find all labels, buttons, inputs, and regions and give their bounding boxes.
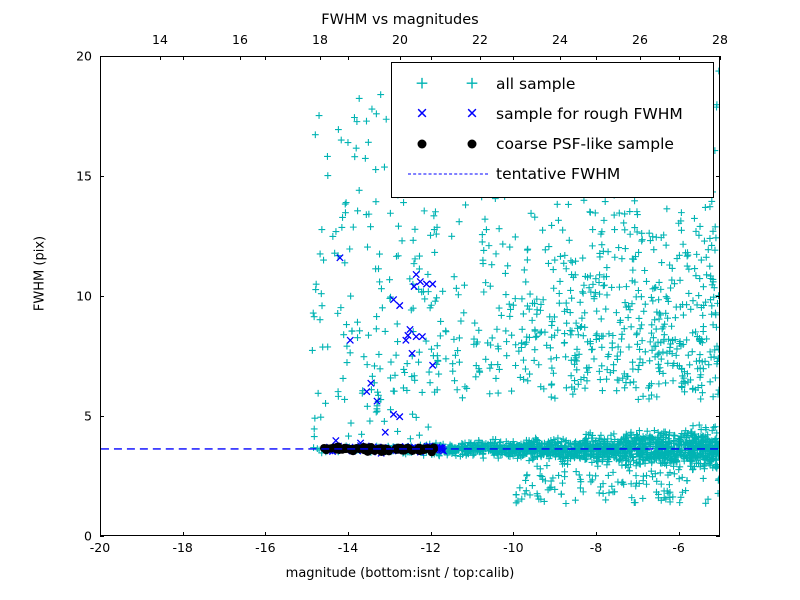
tick-mark [100, 176, 104, 177]
legend-item-sample-for-rough-fwhm: ✕ ✕ sample for rough FWHM [400, 99, 705, 129]
tick-mark [265, 532, 266, 536]
tick-mark [716, 56, 720, 57]
tick-label: -18 [172, 540, 192, 555]
tick-label: 28 [712, 32, 728, 47]
tick-mark [480, 56, 481, 60]
legend: + + all sample ✕ ✕ sample for rough FWHM… [391, 62, 714, 198]
tick-mark [265, 56, 266, 60]
tick-mark [716, 176, 720, 177]
tick-mark [100, 56, 104, 57]
tick-mark [720, 56, 721, 60]
tick-mark [160, 56, 161, 60]
legend-item-tentative-fwhm: tentative FWHM [400, 159, 705, 189]
tick-label: 0 [52, 529, 92, 544]
dot-marker-icon [400, 131, 496, 157]
legend-label: tentative FWHM [496, 165, 620, 183]
tick-mark [183, 532, 184, 536]
tick-label: 24 [552, 32, 568, 47]
tick-mark [640, 56, 641, 60]
tick-label: -20 [90, 540, 110, 555]
tick-mark [716, 296, 720, 297]
tick-mark [596, 532, 597, 536]
tick-label: -6 [672, 540, 684, 555]
tick-mark [431, 532, 432, 536]
tick-label: -10 [503, 540, 523, 555]
tick-label: 14 [152, 32, 168, 47]
tick-mark [716, 416, 720, 417]
tick-label: -14 [338, 540, 358, 555]
y-axis-label: FWHM (pix) [33, 174, 48, 374]
tick-mark [716, 536, 720, 537]
x-marker-icon: ✕ ✕ [400, 101, 496, 127]
tick-label: 20 [52, 49, 92, 64]
tick-label: -16 [255, 540, 275, 555]
tick-mark [400, 56, 401, 60]
tick-label: 20 [392, 32, 408, 47]
tick-mark [513, 532, 514, 536]
plus-icon: + + [400, 71, 496, 97]
tick-mark [183, 56, 184, 60]
dashed-line-icon [400, 161, 496, 187]
tick-mark [348, 532, 349, 536]
tick-mark [100, 416, 104, 417]
tick-label: 5 [52, 409, 92, 424]
legend-item-coarse-psf-like-sample: coarse PSF-like sample [400, 129, 705, 159]
tick-label: -8 [590, 540, 602, 555]
tick-label: 18 [312, 32, 328, 47]
figure: FWHM vs magnitudes magnitude (bottom:isn… [0, 0, 800, 600]
x-axis-label: magnitude (bottom:isnt / top:calib) [0, 566, 800, 581]
legend-label: coarse PSF-like sample [496, 135, 674, 153]
tick-label: 22 [472, 32, 488, 47]
tick-mark [560, 56, 561, 60]
tick-label: 15 [52, 169, 92, 184]
chart-title: FWHM vs magnitudes [0, 12, 800, 28]
tick-mark [320, 56, 321, 60]
tick-mark [679, 532, 680, 536]
legend-label: sample for rough FWHM [496, 105, 683, 123]
tick-mark [513, 56, 514, 60]
tick-label: 10 [52, 289, 92, 304]
tick-mark [431, 56, 432, 60]
tick-mark [240, 56, 241, 60]
tick-mark [100, 536, 104, 537]
tick-mark [100, 296, 104, 297]
tick-label: -12 [420, 540, 440, 555]
tick-mark [679, 56, 680, 60]
legend-item-all-sample: + + all sample [400, 69, 705, 99]
tick-label: 16 [232, 32, 248, 47]
tick-mark [596, 56, 597, 60]
legend-label: all sample [496, 75, 575, 93]
tick-label: 26 [632, 32, 648, 47]
tick-mark [348, 56, 349, 60]
